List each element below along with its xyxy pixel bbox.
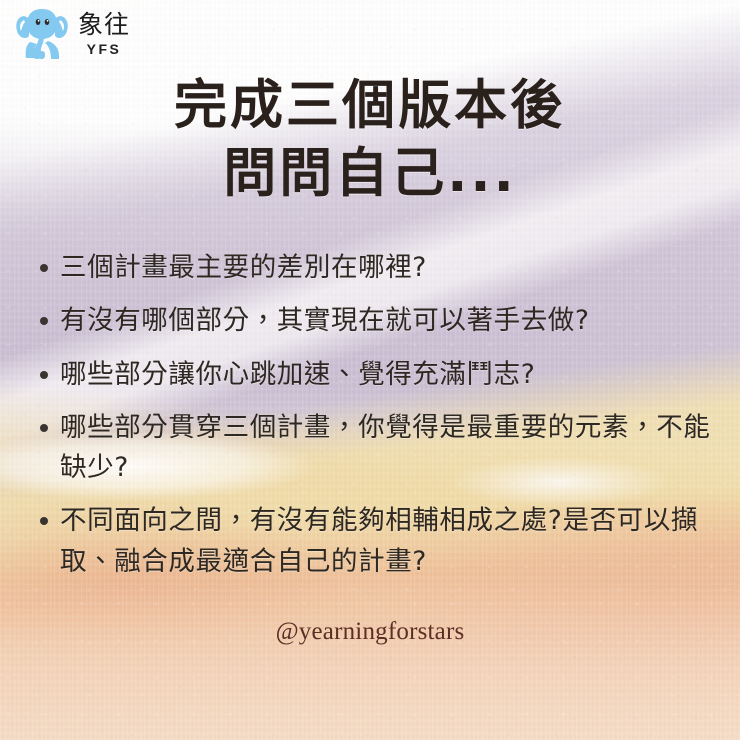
question-text: 三個計畫最主要的差別在哪裡? bbox=[60, 248, 718, 288]
bullet-icon bbox=[40, 371, 48, 379]
list-item: 三個計畫最主要的差別在哪裡? bbox=[40, 248, 718, 288]
brand-text-block: 象往 YFS bbox=[78, 10, 130, 56]
list-item: 哪些部分讓你心跳加速、覺得充滿鬥志? bbox=[40, 355, 718, 395]
list-item: 哪些部分貫穿三個計畫，你覺得是最重要的元素，不能缺少? bbox=[40, 408, 718, 489]
social-handle: @yearningforstars bbox=[0, 618, 740, 646]
brand-name-en: YFS bbox=[87, 42, 122, 56]
question-text: 不同面向之間，有沒有能夠相輔相成之處?是否可以擷取、融合成最適合自己的計畫? bbox=[60, 501, 718, 582]
brand-lockup: 象往 YFS bbox=[14, 4, 130, 62]
bullet-icon bbox=[40, 317, 48, 325]
poster-canvas: 象往 YFS 完成三個版本後 問問自己... 三個計畫最主要的差別在哪裡? 有沒… bbox=[0, 0, 740, 740]
page-title-line-2: 問問自己... bbox=[0, 140, 740, 208]
poster-content: 象往 YFS 完成三個版本後 問問自己... 三個計畫最主要的差別在哪裡? 有沒… bbox=[0, 0, 740, 740]
list-item: 不同面向之間，有沒有能夠相輔相成之處?是否可以擷取、融合成最適合自己的計畫? bbox=[40, 501, 718, 582]
question-text: 有沒有哪個部分，其實現在就可以著手去做? bbox=[60, 301, 718, 341]
page-title: 完成三個版本後 問問自己... bbox=[0, 72, 740, 208]
page-title-line-1: 完成三個版本後 bbox=[0, 72, 740, 140]
question-text: 哪些部分貫穿三個計畫，你覺得是最重要的元素，不能缺少? bbox=[60, 408, 718, 489]
elephant-logo-icon bbox=[14, 4, 70, 62]
brand-name-cn: 象往 bbox=[78, 12, 130, 37]
bullet-icon bbox=[40, 424, 48, 432]
question-list: 三個計畫最主要的差別在哪裡? 有沒有哪個部分，其實現在就可以著手去做? 哪些部分… bbox=[40, 248, 718, 595]
bullet-icon bbox=[40, 264, 48, 272]
bullet-icon bbox=[40, 517, 48, 525]
list-item: 有沒有哪個部分，其實現在就可以著手去做? bbox=[40, 301, 718, 341]
question-text: 哪些部分讓你心跳加速、覺得充滿鬥志? bbox=[60, 355, 718, 395]
